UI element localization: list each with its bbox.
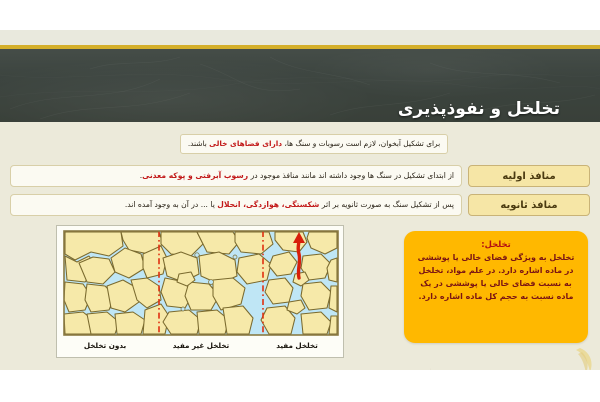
intro-statement-box: برای تشکیل آبخوان، لازم است رسوبات و سنگ…: [180, 134, 448, 154]
callout-line-3: به نسبت فضای خالی یا پوششی در یک: [415, 278, 577, 291]
def2-part1: پس از تشکیل سنگ به صورت ثانویه بر اثر: [319, 200, 454, 209]
rock-grains-porosity-icon: [63, 230, 339, 336]
definition-label-secondary: منافذ ثانویه: [468, 194, 590, 216]
def2-part2: یا ... در آن به وجود آمده اند.: [125, 200, 217, 209]
intro-statement-text: برای تشکیل آبخوان، لازم است رسوبات و سنگ…: [188, 140, 440, 147]
callout-line-4: ماده نسبت به حجم کل ماده اشاره دارد.: [415, 291, 577, 304]
callout-title: تخلخل:: [415, 239, 577, 249]
bottom-white-strip: [0, 370, 600, 400]
diagram-label-ineffective-porosity: تخلخل غیر مفید: [153, 341, 249, 350]
callout-body: تخلخل به ویژگی فضای خالی یا پوششی در ماد…: [415, 252, 577, 304]
definition-text-primary: از ابتدای تشکیل در سنگ ها وجود داشته اند…: [10, 165, 462, 187]
slide-root: تخلخل و نفوذپذیری برای تشکیل آبخوان، لاز…: [0, 0, 600, 400]
intro-text-part1: برای تشکیل آبخوان، لازم است رسوبات و سنگ…: [282, 139, 440, 148]
porosity-definition-callout: تخلخل: تخلخل به ویژگی فضای خالی یا پوششی…: [404, 231, 588, 343]
diagram-zone-labels: تخلخل مفید تخلخل غیر مفید بدون تخلخل: [57, 336, 344, 354]
callout-line-2: در ماده اشاره دارد. در علم مواد، تخلخل: [415, 265, 577, 278]
diagram-label-no-porosity: بدون تخلخل: [57, 341, 153, 350]
header-cream-band: [0, 30, 600, 45]
porosity-diagram-card: تخلخل مفید تخلخل غیر مفید بدون تخلخل: [56, 225, 344, 358]
def1-emphasis: رسوب آبرفتی و پوکه معدنی: [142, 171, 248, 180]
definition-label-primary: منافذ اولیه: [468, 165, 590, 187]
def2-emphasis: شکستگی، هوازدگی، انحلال: [217, 200, 319, 209]
top-white-strip: [0, 0, 600, 30]
intro-text-part2: باشند.: [188, 139, 209, 148]
definition-row-primary-pores: منافذ اولیه از ابتدای تشکیل در سنگ ها وج…: [10, 165, 590, 187]
definition-row-secondary-pores: منافذ ثانویه پس از تشکیل سنگ به صورت ثان…: [10, 194, 590, 216]
header-chalkboard: تخلخل و نفوذپذیری: [0, 49, 600, 122]
callout-line-1: تخلخل به ویژگی فضای خالی یا پوششی: [415, 252, 577, 265]
page-title: تخلخل و نفوذپذیری: [398, 99, 560, 119]
slide-header: تخلخل و نفوذپذیری: [0, 30, 600, 122]
def1-part1: از ابتدای تشکیل در سنگ ها وجود داشته اند…: [248, 171, 454, 180]
definition-text-secondary: پس از تشکیل سنگ به صورت ثانویه بر اثر شک…: [10, 194, 462, 216]
porosity-diagram-figure: [63, 230, 339, 336]
intro-text-emphasis: دارای فضاهای خالی: [209, 139, 282, 148]
diagram-label-effective-porosity: تخلخل مفید: [249, 341, 344, 350]
